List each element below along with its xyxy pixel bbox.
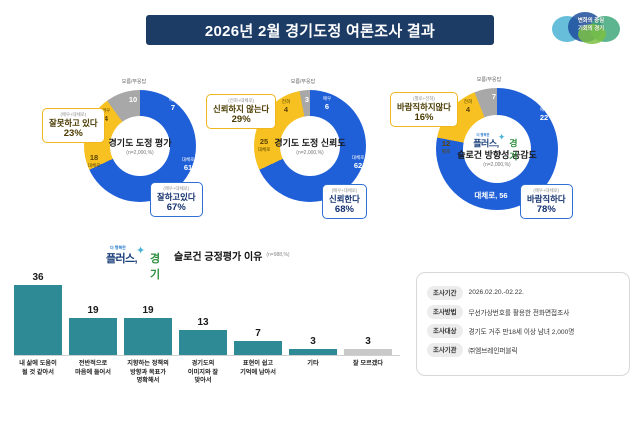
bar-value-label: 19: [124, 305, 172, 316]
bar-rect: [289, 349, 337, 355]
info-row: 조사방법무선가상번호를 활용한 전화면접조사: [427, 302, 621, 321]
donut-chart-1: 경기도 도정 평가 (n=2,000,%) 매우 7 대체로 61 18 대체로…: [44, 66, 234, 231]
info-row-key: 조사방법: [427, 305, 463, 319]
donut-2-seg-jeonhyeo: 전혀 4: [276, 98, 296, 113]
donut-3-outside-label: 모름/무응답: [460, 76, 518, 83]
donut-chart-3: 더 행복한 ✦ 플러스, 경기 슬로건 방향성 공감도 (n=2,000,%) …: [392, 66, 622, 231]
bar-chart-section: 더 행복한 ✦ 플러스, 경기 슬로건 긍정평가 이유 (n=988,%) 36…: [6, 244, 406, 394]
info-row: 조사기관㈜엠브레인퍼블릭: [427, 340, 621, 359]
bar-rect: [14, 285, 62, 355]
bar-rect: [179, 330, 227, 355]
donut-3-seg-maeu: 매우 22: [532, 106, 556, 121]
info-row: 조사기간2026.02.20.-02.22.: [427, 283, 621, 302]
donut-1-seg-daeche-neg: 18 대체로: [82, 154, 106, 169]
donut-1-seg-maeu: 매우 7: [162, 96, 184, 111]
donut-2-callout-negative: (전혀+대체로) 신뢰하지 않는다 29%: [206, 94, 276, 129]
donut-2-subtitle: (n=2,000,%): [296, 150, 323, 156]
bar-column: [124, 318, 172, 355]
info-row-value: 경기도 거주 만18세 이상 남녀 2,000명: [469, 326, 575, 336]
bar-column: [14, 285, 62, 355]
bar-chart-title: 슬로건 긍정평가 이유: [174, 248, 262, 263]
bar-category-label: 내 삶에 도움이될 것 같아서: [7, 360, 69, 377]
donut-1-subtitle: (n=2,000,%): [126, 150, 153, 156]
donut-2-seg-daeche-neg: 25 대체로: [252, 138, 276, 153]
info-row-key: 조사기관: [427, 343, 463, 357]
donut-1-seg-noanswer: 10: [121, 96, 145, 104]
info-row-value: ㈜엠브레인퍼블릭: [469, 345, 518, 355]
plus-logo-main: 플러스,: [473, 136, 498, 149]
donut-1-callout-negative: (매우+대체로) 잘못하고 있다 23%: [42, 108, 105, 143]
bar-value-label: 19: [69, 305, 117, 316]
donut-1-seg-daeche-pos: 대체로 61: [176, 156, 200, 171]
bar-value-label: 7: [234, 328, 282, 339]
bar-chart-plot: 36191913733: [6, 270, 406, 356]
donut-chart-2: 경기도 도정 신뢰도 (n=2,000,%) 매우 6 대체로 62 25 대체…: [214, 66, 404, 231]
donut-2-seg-maeu: 매우 6: [316, 95, 338, 110]
bar-chart-header: 더 행복한 ✦ 플러스, 경기 슬로건 긍정평가 이유 (n=988,%): [106, 244, 290, 266]
donut-1-outside-label: 모름/무응답: [108, 78, 160, 85]
title-banner: 2026년 2월 경기도정 여론조사 결과: [146, 15, 494, 45]
donut-1-title: 경기도 도정 평가: [109, 136, 172, 149]
donut-3-callout-positive: (매우+대체로) 바람직하다 78%: [520, 184, 573, 219]
bar-category-label: 경기도의이미지와 잘맞아서: [172, 360, 234, 386]
bar-chart-sample-size: (n=988,%): [266, 252, 289, 258]
info-row-value: 2026.02.20.-02.22.: [469, 289, 524, 296]
donut-3-seg-noanswer: 7: [484, 93, 504, 101]
bar-rect: [124, 318, 172, 355]
bar-category-label: 기타: [282, 360, 344, 369]
donut-2-outside-label: 모름/무응답: [274, 78, 332, 85]
donut-3-seg-daeche: 대체로, 56: [470, 192, 512, 200]
bar-rect: [234, 341, 282, 355]
bar-column: [179, 330, 227, 355]
plus-logo-gg: 경기: [509, 136, 520, 162]
logo-text: 변화의 중심 기회의 경기: [552, 17, 630, 33]
donut-3-callout-negative: (별로+전혀) 바람직하지않다 16%: [390, 92, 458, 127]
bar-value-label: 13: [179, 317, 227, 328]
bar-value-label: 3: [344, 336, 392, 347]
bar-value-label: 3: [289, 336, 337, 347]
logo-text-line1: 변화의 중심: [552, 17, 630, 25]
info-row-key: 조사대상: [427, 324, 463, 338]
logo-text-line2: 기회의 경기: [552, 25, 630, 33]
donut-3-subtitle: (n=2,000,%): [483, 162, 510, 168]
donut-2-seg-daeche-pos: 대체로 62: [346, 154, 370, 169]
bar-column: [69, 318, 117, 355]
page-header: 2026년 2월 경기도정 여론조사 결과 변화의 중심 기회의 경기: [0, 0, 640, 58]
donut-2-title: 경기도 도정 신뢰도: [274, 136, 345, 149]
donut-3-seg-byeollo: 12 별로: [434, 140, 458, 155]
bar-category-label: 전반적으로마음에 들어서: [62, 360, 124, 377]
bar-category-label: 표현이 쉽고기억에 남아서: [227, 360, 289, 377]
bar-column: [289, 349, 337, 355]
info-row: 조사대상경기도 거주 만18세 이상 남녀 2,000명: [427, 321, 621, 340]
bar-category-label: 지향하는 정책의방향과 목표가명확해서: [117, 360, 179, 386]
bar-rect: [69, 318, 117, 355]
bar-column: [344, 349, 392, 355]
bar-chart-baseline: [14, 355, 400, 356]
star-icon: ✦: [136, 244, 145, 257]
donut-2-callout-positive: (매우+대체로) 신뢰한다 68%: [322, 184, 367, 219]
survey-info-card: 조사기간2026.02.20.-02.22.조사방법무선가상번호를 활용한 전화…: [416, 272, 630, 376]
donut-1-callout-positive: (매우+대체로) 잘하고있다 67%: [150, 182, 203, 217]
bar-plus-logo-main: 플러스,: [106, 250, 137, 266]
info-row-key: 조사기간: [427, 286, 463, 300]
page-title: 2026년 2월 경기도정 여론조사 결과: [205, 20, 435, 41]
star-icon: ✦: [498, 131, 506, 142]
gyeonggi-brand-logo: 변화의 중심 기회의 경기: [552, 10, 630, 44]
donut-3-plus-logo: 더 행복한 ✦ 플러스, 경기: [473, 132, 521, 146]
bar-column: [234, 341, 282, 355]
info-row-value: 무선가상번호를 활용한 전화면접조사: [469, 307, 570, 317]
bar-plus-logo: 더 행복한 ✦ 플러스, 경기: [106, 245, 170, 265]
donut-3-seg-jeonhyeo: 전혀 4: [458, 98, 478, 113]
donut-2-seg-noanswer: 3: [297, 96, 317, 104]
bar-value-label: 36: [14, 272, 62, 283]
bar-category-label: 잘 모르겠다: [337, 360, 399, 369]
bar-rect: [344, 349, 392, 355]
